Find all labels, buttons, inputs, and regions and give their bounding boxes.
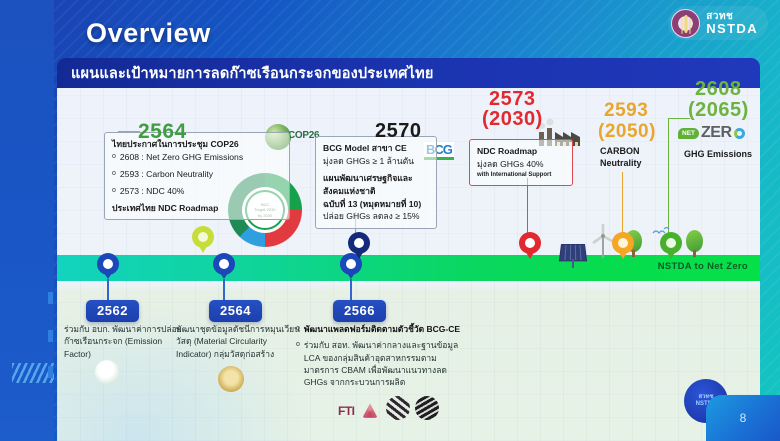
band-label: NSTDA to Net Zero: [658, 261, 748, 272]
callout-2608-line: GHG Emissions: [684, 148, 752, 161]
left-rail: [0, 0, 54, 441]
year-chip-2564[interactable]: 2564: [209, 300, 262, 322]
brand-name-en: NSTDA: [706, 22, 758, 35]
callout-2570: BCG Model สาขา CE มุ่งลด GHGs ≥ 1 ล้านตั…: [315, 136, 437, 229]
milestone-year-2593: 2593: [604, 100, 648, 122]
tgo-logo: [95, 360, 119, 384]
callout-2564-item: 2593 : Carbon Neutrality: [120, 168, 213, 181]
zero-ring-icon: [734, 128, 745, 139]
year-chip-2566[interactable]: 2566: [333, 300, 386, 322]
rail-dot: [48, 330, 53, 342]
note-2562: ร่วมกับ อบก. พัฒนาค่าการปล่อยก๊าซเรือนกร…: [64, 323, 182, 360]
solar-panel-leg: [572, 259, 574, 268]
milestone-year-2593-gregorian: (2050): [598, 121, 656, 143]
note-2566-bullet-2: ร่วมกับ สอท. พัฒนาค่ากลางและฐานข้อมูล LC…: [304, 339, 468, 388]
callout-2564-item: 2573 : NDC 40%: [120, 185, 185, 198]
connector-line: [668, 118, 690, 119]
callout-2570-heading: BCG Model สาขา CE: [323, 142, 429, 155]
milestone-year-2564: 2564: [138, 120, 187, 144]
timeline-pin-2570[interactable]: [348, 232, 370, 259]
note-2564-text: พัฒนาชุดข้อมูลดัชนีการหมุนเวียนวัสดุ (Ma…: [176, 324, 300, 359]
net-badge: NET: [678, 128, 699, 139]
callout-2570-line: ฉบับที่ 13 (หมุดหมายที่ 10): [323, 198, 429, 211]
milestone-year-2608: 2608: [695, 78, 742, 101]
callout-2564-item: 2608 : Net Zero GHG Emissions: [120, 151, 243, 164]
callout-2573-note: with International Support: [477, 171, 565, 180]
callout-2570-line: มุ่งลด GHGs ≥ 1 ล้านตัน: [323, 155, 429, 168]
slide-canvas: Overview สวทช NSTDA แผนและเป้าหมายการลดก…: [0, 0, 780, 441]
connector-line: [527, 178, 528, 240]
thai-gov-logo: [218, 366, 244, 392]
callout-2570-line: แผนพัฒนาเศรษฐกิจและสังคมแห่งชาติ: [323, 172, 429, 198]
note-2566: oพัฒนาแพลตฟอร์มติดตามตัวชี้วัด BCG-CE oร…: [296, 323, 468, 393]
timeline-pin-2593[interactable]: [612, 232, 634, 259]
industry-logo-2: [415, 396, 439, 420]
brand-name-th: สวทช: [706, 12, 758, 22]
card-header: แผนและเป้าหมายการลดก๊าซเรือนกระจกของประเ…: [57, 58, 760, 88]
brand-logo: สวทช NSTDA: [668, 6, 768, 40]
callout-2593-line2: Neutrality: [600, 157, 642, 170]
page-number: 8: [706, 395, 780, 441]
tree-icon: [686, 230, 703, 257]
fti-logo: FTI: [338, 404, 355, 418]
net-zero-logo: NET ZER: [678, 124, 745, 142]
milestone-year-2570: 2570: [375, 120, 422, 143]
callout-2573-heading: NDC Roadmap: [477, 145, 565, 158]
page-title: Overview: [86, 18, 211, 49]
year-chip-2562[interactable]: 2562: [86, 300, 139, 322]
note-2564: พัฒนาชุดข้อมูลดัชนีการหมุนเวียนวัสดุ (Ma…: [176, 323, 302, 360]
note-2562-text: ร่วมกับ อบก. พัฒนาค่าการปล่อยก๊าซเรือนกร…: [64, 324, 182, 359]
zero-badge: ZER: [701, 124, 732, 142]
timeline-pin-2573[interactable]: [519, 232, 541, 259]
callout-2573-line: มุ่งลด GHGs 40%: [477, 158, 565, 171]
nstda-seal-icon: [671, 9, 700, 38]
callout-2564-footer: ประเทศไทย NDC Roadmap: [112, 202, 282, 215]
timeline-pin-2564-upper[interactable]: [192, 226, 214, 253]
callout-2564: ไทยประกาศในการประชุม COP26 o2608 : Net Z…: [104, 132, 290, 220]
note-2566-bullet-1: พัฒนาแพลตฟอร์มติดตามตัวชี้วัด BCG-CE: [304, 323, 460, 335]
connector-line: [668, 118, 669, 238]
industry-logo-1: [386, 396, 410, 420]
timeline-band: NSTDA to Net Zero: [57, 255, 760, 281]
milestone-year-2608-gregorian: (2065): [688, 99, 749, 122]
timeline-pin-2608[interactable]: [660, 232, 682, 259]
callout-2570-line: ปล่อย GHGs ลดลง ≥ 15%: [323, 210, 429, 223]
card-subtitle: แผนและเป้าหมายการลดก๊าซเรือนกระจกของประเ…: [71, 62, 434, 85]
rail-dot: [48, 366, 53, 378]
callout-2573: NDC Roadmap มุ่งลด GHGs 40% with Interna…: [469, 139, 573, 186]
rail-dot: [48, 292, 53, 304]
milestone-year-2573-gregorian: (2030): [482, 108, 543, 131]
connector-line: [622, 172, 623, 238]
